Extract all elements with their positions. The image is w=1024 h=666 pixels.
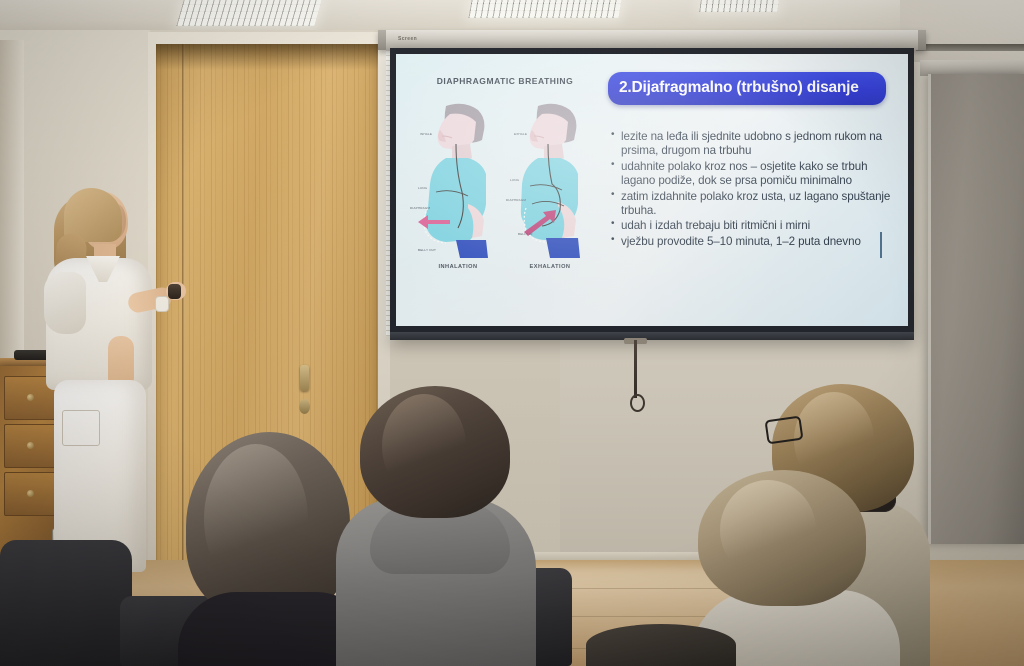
- diagram-label: LUNG: [418, 186, 427, 190]
- bullet-item: lezite na leđa ili sjednite udobno s jed…: [610, 130, 896, 158]
- housing-brand-label: Screen: [398, 36, 417, 42]
- door-handle-icon[interactable]: [300, 365, 309, 391]
- slide-bullet-list: lezite na leđa ili sjednite udobno s jed…: [610, 130, 896, 251]
- ceiling-light-icon: [699, 0, 779, 12]
- audience-hair: [586, 624, 736, 666]
- diaphragmatic-breathing-diagram: DIAPHRAGMATIC BREATHING: [414, 76, 596, 296]
- diagram-label: DIAPHRAGM: [506, 198, 526, 202]
- audience-hair-highlight: [204, 444, 308, 594]
- housing-end-cap: [918, 30, 926, 50]
- diagram-label: BELLY OUT: [418, 248, 436, 252]
- projection-screen-surface: DIAPHRAGMATIC BREATHING: [396, 54, 908, 326]
- audience-hair-highlight: [720, 480, 816, 580]
- screen-pull-cord[interactable]: [634, 340, 637, 398]
- lecture-room-photo: Screen DIAPHRAGMATIC BREATHING: [0, 0, 1024, 666]
- diagram-label: BELLY IN: [518, 232, 533, 236]
- presenter-pocket: [62, 410, 100, 446]
- housing-end-cap: [378, 30, 386, 50]
- figure-exhalation: EXHALE LUNG DIAPHRAGM BELLY IN EXHALATIO…: [508, 100, 592, 268]
- audience-hair-highlight: [382, 394, 466, 498]
- presenter: [24, 186, 184, 586]
- eyeglasses-icon: [765, 416, 804, 445]
- slide-title-banner: 2.Dijafragmalno (trbušno) disanje: [608, 72, 886, 105]
- figure-inhalation: INHALE LUNG DIAPHRAGM BELLY OUT INHALATI…: [416, 100, 500, 268]
- text-cursor: [880, 232, 882, 258]
- diagram-label: INHALE: [420, 132, 432, 136]
- bullet-item: udahnite polako kroz nos – osjetite kako…: [610, 160, 896, 188]
- ceiling-light-icon: [468, 0, 621, 18]
- soffit-slot: [916, 44, 1024, 51]
- figure-caption-exhalation: EXHALATION: [508, 264, 592, 270]
- presentation-clicker[interactable]: [168, 284, 181, 299]
- presenter-wristband: [155, 296, 169, 312]
- audience-member: [348, 386, 524, 666]
- ceiling-light-icon: [176, 0, 321, 26]
- bullet-item: vježbu provodite 5–10 minuta, 1–2 puta d…: [610, 235, 896, 249]
- presentation-slide: DIAPHRAGMATIC BREATHING: [396, 54, 908, 326]
- door-lock-icon[interactable]: [299, 399, 310, 414]
- bullet-item: udah i izdah trebaju biti ritmični i mir…: [610, 219, 896, 233]
- chair[interactable]: [0, 540, 132, 666]
- door-top-shadow: [156, 44, 378, 70]
- diagram-label: DIAPHRAGM: [410, 206, 430, 210]
- screen-pull-ring-icon[interactable]: [630, 394, 645, 412]
- diagram-label: LUNG: [510, 178, 519, 182]
- diagram-label: EXHALE: [514, 132, 527, 136]
- diagram-title: DIAPHRAGMATIC BREATHING: [414, 76, 596, 86]
- grey-cabinet: [928, 74, 1024, 544]
- bullet-item: zatim izdahnite polako kroz usta, uz lag…: [610, 190, 896, 218]
- audience-member: [586, 624, 736, 666]
- presenter-sleeve: [44, 272, 86, 334]
- screen-bottom-bar: [390, 332, 914, 340]
- figure-caption-inhalation: INHALATION: [416, 264, 500, 270]
- projector-screen-housing: [378, 30, 926, 50]
- slide-title: 2.Dijafragmalno (trbušno) disanje: [619, 79, 875, 96]
